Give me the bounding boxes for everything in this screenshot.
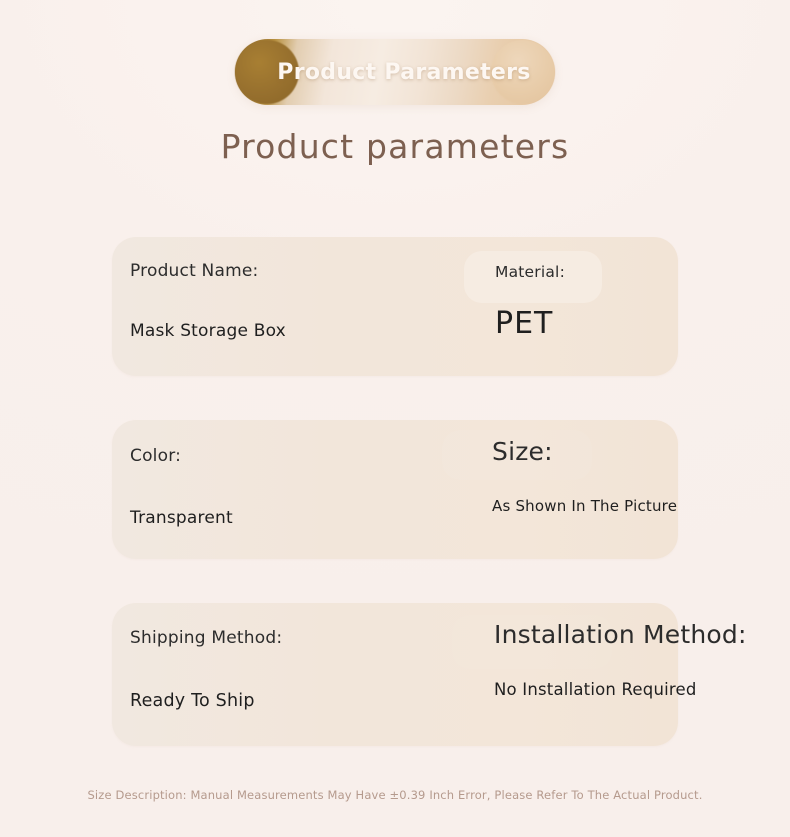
parameter-value: No Installation Required — [494, 680, 747, 699]
parameter-value: As Shown In The Picture — [492, 497, 677, 515]
parameter-cell-size: Size: As Shown In The Picture — [492, 437, 677, 515]
parameter-label: Shipping Method: — [130, 628, 282, 648]
size-description-note: Size Description: Manual Measurements Ma… — [87, 788, 702, 802]
parameter-label: Color: — [130, 446, 233, 466]
parameter-label: Material: — [495, 263, 565, 281]
banner-title: Product Parameters — [235, 39, 555, 105]
parameter-value: Transparent — [130, 508, 233, 528]
parameter-card: Shipping Method: Ready To Ship Installat… — [112, 603, 678, 746]
parameter-label: Size: — [492, 437, 677, 466]
parameter-cell-shipping-method: Shipping Method: Ready To Ship — [130, 628, 282, 711]
parameter-value: Ready To Ship — [130, 691, 282, 711]
header-banner-pill: Product Parameters — [235, 39, 555, 105]
parameter-label: Product Name: — [130, 261, 286, 281]
parameter-value: Mask Storage Box — [130, 321, 286, 341]
page-subtitle: Product parameters — [0, 127, 790, 166]
parameter-cell-installation-method: Installation Method: No Installation Req… — [494, 620, 747, 699]
header-banner-container: Product Parameters — [0, 36, 790, 108]
parameter-label: Installation Method: — [494, 620, 747, 649]
product-parameters-page: Product Parameters Product parameters Pr… — [0, 0, 790, 837]
parameter-value: PET — [495, 306, 565, 341]
parameter-card: Color: Transparent Size: As Shown In The… — [112, 420, 678, 559]
parameter-cell-color: Color: Transparent — [130, 446, 233, 528]
parameter-cards-list: Product Name: Mask Storage Box Material:… — [0, 237, 790, 746]
parameter-cell-product-name: Product Name: Mask Storage Box — [130, 261, 286, 341]
parameter-card: Product Name: Mask Storage Box Material:… — [112, 237, 678, 376]
parameter-cell-material: Material: PET — [495, 263, 565, 341]
footer-note-container: Size Description: Manual Measurements Ma… — [0, 784, 790, 803]
